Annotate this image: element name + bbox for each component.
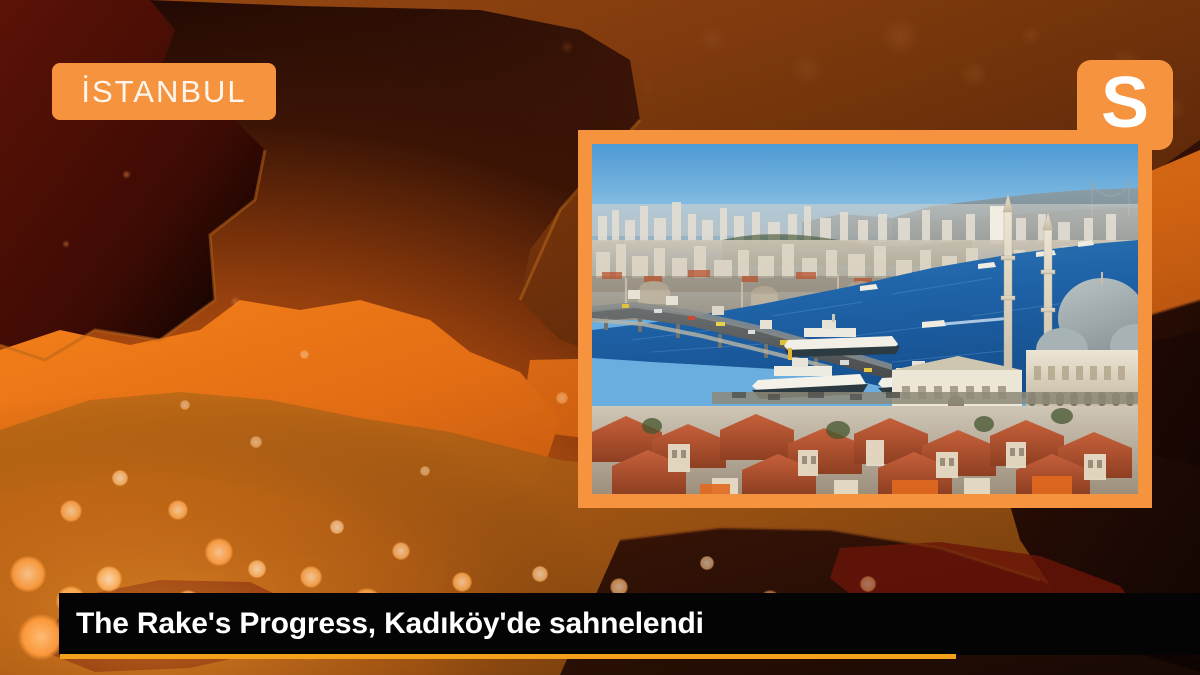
photo-card (578, 130, 1152, 508)
brand-logo-letter: S (1101, 67, 1149, 139)
news-card: İSTANBUL S (0, 0, 1200, 675)
photo-frame (592, 144, 1138, 494)
caption-bar: The Rake's Progress, Kadıköy'de sahnelen… (59, 593, 1200, 655)
caption-underline-rule (60, 654, 956, 659)
istanbul-panorama-photo (592, 144, 1138, 494)
city-badge-label: İSTANBUL (81, 76, 246, 107)
headline-text: The Rake's Progress, Kadıköy'de sahnelen… (59, 607, 704, 641)
city-badge: İSTANBUL (52, 63, 276, 120)
